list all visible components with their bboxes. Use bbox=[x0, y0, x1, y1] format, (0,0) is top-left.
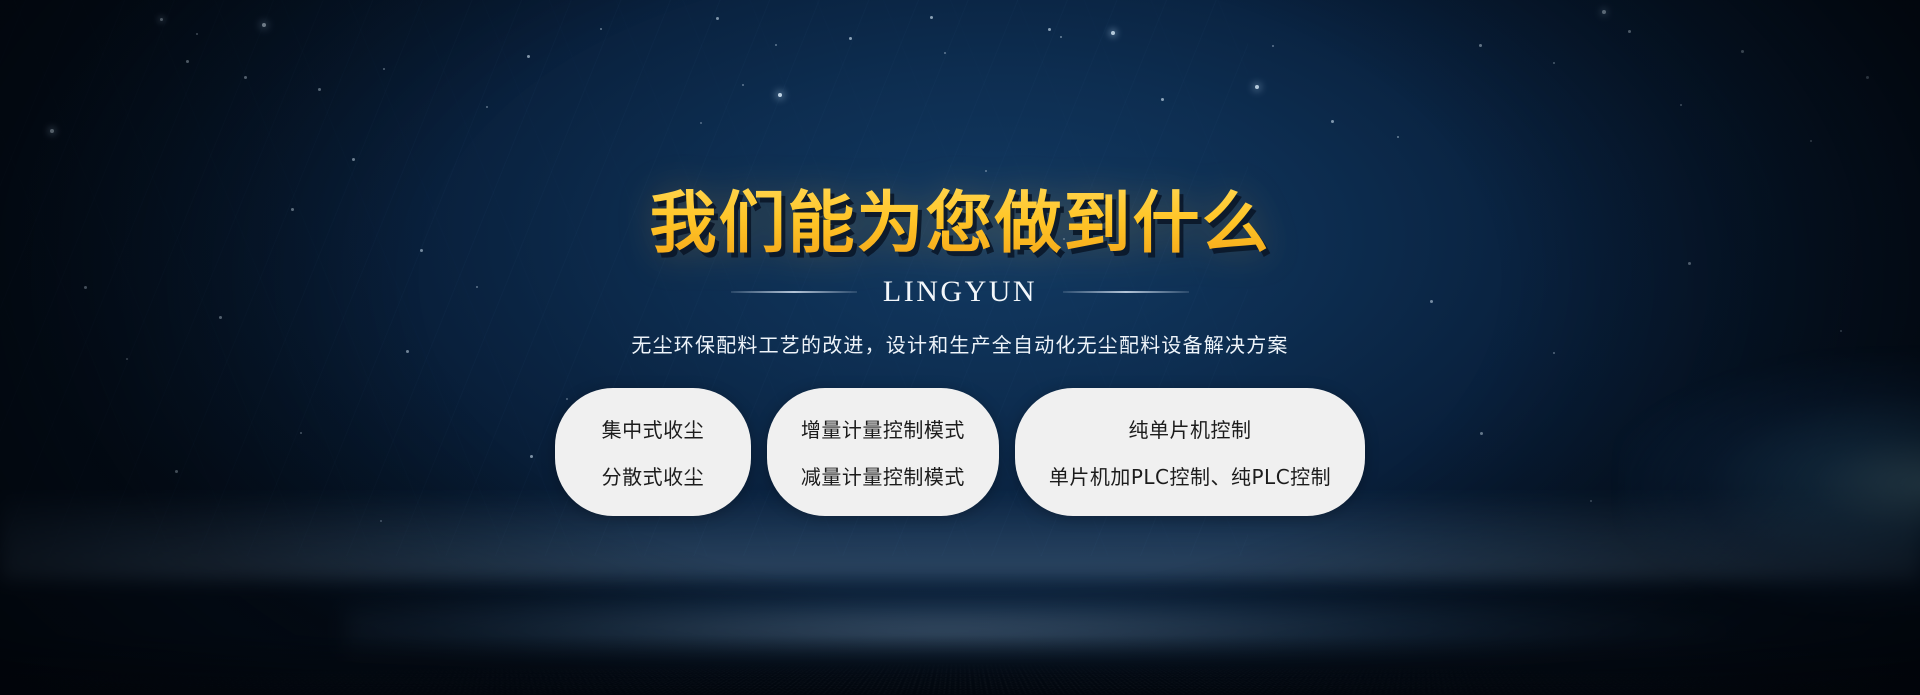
wave-dot-grid-far bbox=[0, 658, 1920, 695]
wave-bottom-fade bbox=[0, 635, 1920, 695]
feature-pill-metering-mode[interactable]: 增量计量控制模式 减量计量控制模式 bbox=[767, 388, 999, 516]
hero-description: 无尘环保配料工艺的改进，设计和生产全自动化无尘配料设备解决方案 bbox=[0, 329, 1920, 358]
feature-pill-dust-collection[interactable]: 集中式收尘 分散式收尘 bbox=[555, 388, 751, 516]
pill-line-secondary: 减量计量控制模式 bbox=[801, 461, 965, 490]
hero-content: 我们能为您做到什么 LINGYUN 无尘环保配料工艺的改进，设计和生产全自动化无… bbox=[0, 0, 1920, 516]
hero-banner: 我们能为您做到什么 LINGYUN 无尘环保配料工艺的改进，设计和生产全自动化无… bbox=[0, 0, 1920, 695]
star-particle bbox=[380, 520, 382, 522]
pill-line-primary: 纯单片机控制 bbox=[1129, 414, 1252, 443]
page-title: 我们能为您做到什么 bbox=[650, 188, 1271, 258]
brand-name: LINGYUN bbox=[883, 275, 1037, 309]
bottom-wave-mesh bbox=[0, 490, 1920, 695]
divider-line-left bbox=[731, 291, 857, 293]
feature-pill-group: 集中式收尘 分散式收尘 增量计量控制模式 减量计量控制模式 纯单片机控制 单片机… bbox=[0, 388, 1920, 516]
wave-highlight-glow bbox=[346, 589, 1767, 659]
wave-dot-grid-near bbox=[0, 657, 1920, 695]
feature-pill-control-system[interactable]: 纯单片机控制 单片机加PLC控制、纯PLC控制 bbox=[1015, 388, 1365, 516]
brand-subtitle-row: LINGYUN bbox=[0, 275, 1920, 309]
pill-line-primary: 集中式收尘 bbox=[602, 414, 705, 443]
divider-line-right bbox=[1063, 291, 1189, 293]
pill-line-primary: 增量计量控制模式 bbox=[801, 414, 965, 443]
pill-line-secondary: 分散式收尘 bbox=[602, 461, 705, 490]
pill-line-secondary: 单片机加PLC控制、纯PLC控制 bbox=[1049, 461, 1331, 490]
